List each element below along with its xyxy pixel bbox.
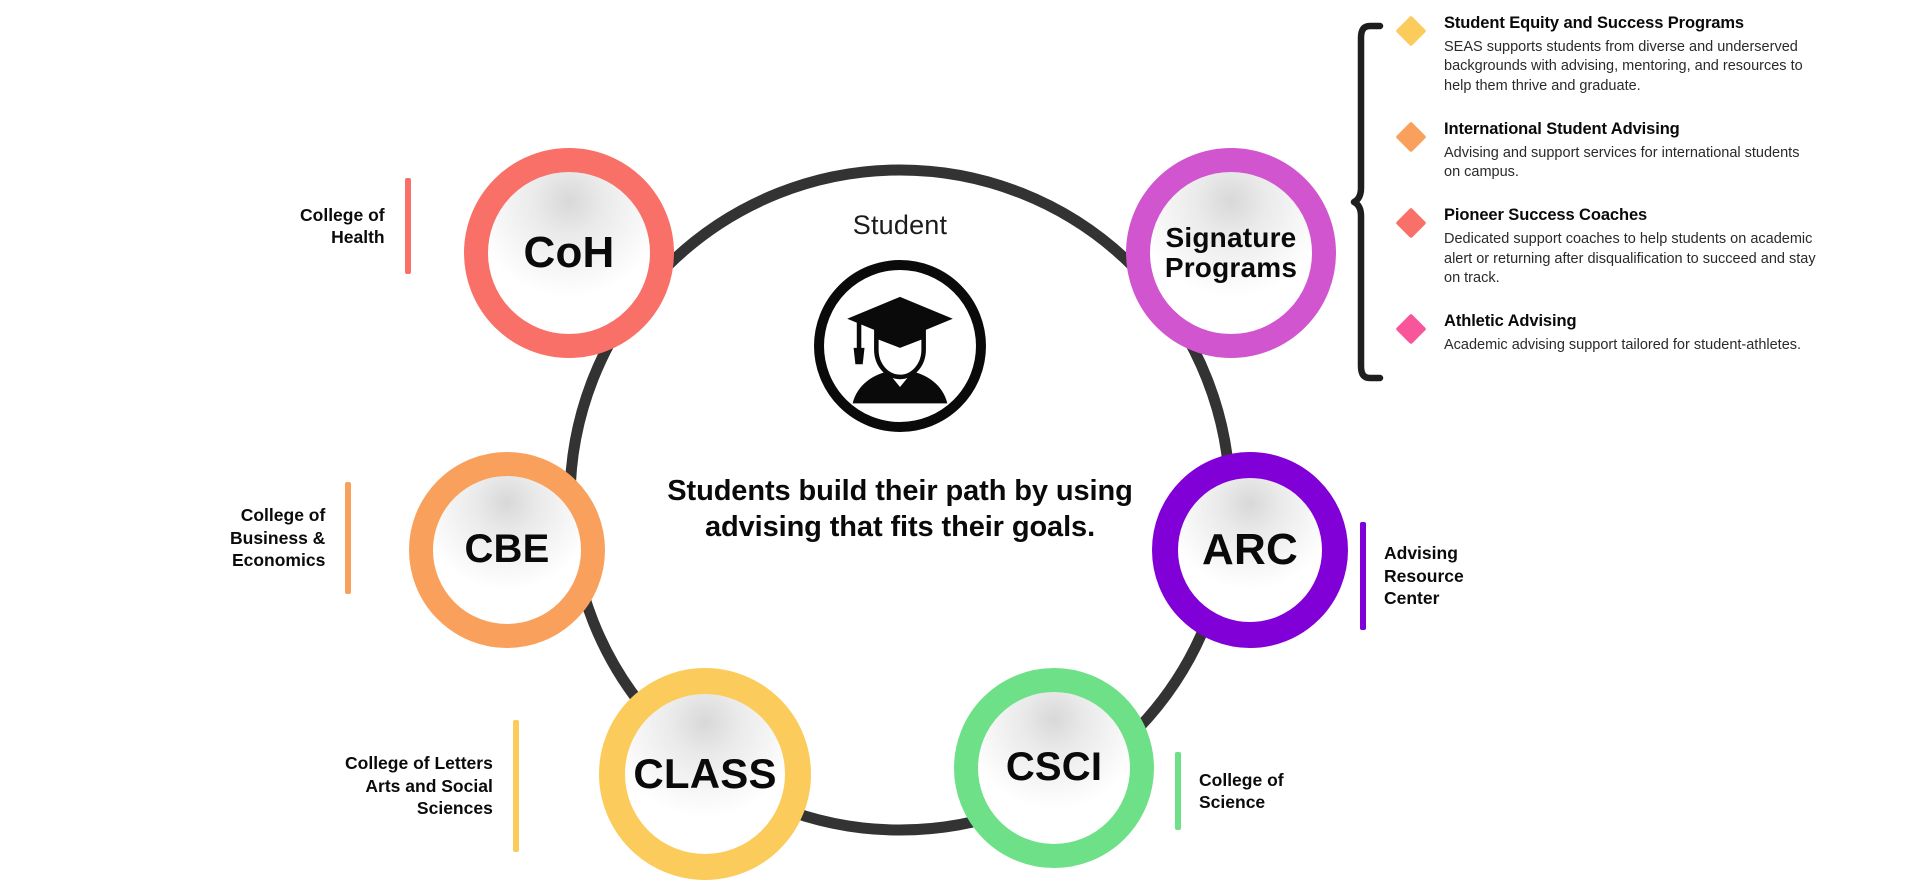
student-tagline: Students build their path by using advis…: [640, 473, 1160, 546]
accent-bar-cbe: [345, 482, 351, 594]
node-signature-programs-label: Signature Programs: [1165, 223, 1297, 283]
legend-item-title: Athletic Advising: [1444, 312, 1910, 331]
side-label-college-of-health: College of Health: [300, 178, 411, 274]
student-caption: Student: [640, 210, 1160, 241]
legend-item-description: Academic advising support tailored for s…: [1444, 336, 1819, 355]
node-csci-label: CSCI: [1006, 746, 1102, 789]
diagram-canvas: CoH Signature Programs CBE ARC CLASS CSC…: [0, 0, 1920, 881]
accent-bar-class: [513, 720, 519, 852]
side-label-advising-resource-center: Advising Resource Center: [1360, 522, 1464, 630]
legend-item-title: Pioneer Success Coaches: [1444, 206, 1910, 225]
diamond-icon: [1395, 15, 1426, 46]
legend-item-title: International Student Advising: [1444, 120, 1910, 139]
side-label-college-of-health-text: College of Health: [300, 204, 405, 249]
curly-brace-icon: [1350, 20, 1384, 384]
legend-item-list: Student Equity and Success Programs SEAS…: [1384, 14, 1910, 384]
node-cbe-label: CBE: [464, 528, 549, 571]
side-label-advising-resource-center-text: Advising Resource Center: [1366, 542, 1464, 609]
legend-item-title: Student Equity and Success Programs: [1444, 14, 1910, 33]
side-label-college-of-science: College of Science: [1175, 752, 1284, 830]
diamond-icon: [1395, 208, 1426, 239]
side-label-college-of-business-economics: College of Business & Economics: [230, 482, 351, 594]
side-label-college-of-science-text: College of Science: [1181, 769, 1284, 814]
diamond-icon: [1395, 121, 1426, 152]
node-csci[interactable]: CSCI: [954, 668, 1154, 868]
node-coh-label: CoH: [523, 229, 614, 277]
side-label-college-of-business-economics-text: College of Business & Economics: [230, 504, 345, 571]
legend-item-description: Dedicated support coaches to help studen…: [1444, 230, 1819, 288]
signature-programs-legend: Student Equity and Success Programs SEAS…: [1350, 14, 1910, 384]
node-arc[interactable]: ARC: [1152, 452, 1348, 648]
node-class[interactable]: CLASS: [599, 668, 811, 880]
legend-item[interactable]: International Student Advising Advising …: [1400, 120, 1910, 183]
side-label-college-of-letters-arts-social-sciences-text: College of Letters Arts and Social Scien…: [345, 752, 513, 819]
legend-item-description: SEAS supports students from diverse and …: [1444, 38, 1819, 96]
side-label-college-of-letters-arts-social-sciences: College of Letters Arts and Social Scien…: [345, 720, 519, 852]
node-class-label: CLASS: [633, 751, 776, 796]
graduate-student-icon: [809, 255, 991, 437]
center-student-block: Student Students build their path by usi…: [640, 210, 1160, 546]
legend-item-description: Advising and support services for intern…: [1444, 144, 1819, 183]
accent-bar-coh: [405, 178, 411, 274]
legend-item[interactable]: Student Equity and Success Programs SEAS…: [1400, 14, 1910, 96]
legend-item[interactable]: Pioneer Success Coaches Dedicated suppor…: [1400, 206, 1910, 288]
node-cbe[interactable]: CBE: [409, 452, 605, 648]
node-arc-label: ARC: [1202, 526, 1298, 574]
diamond-icon: [1395, 314, 1426, 345]
legend-item[interactable]: Athletic Advising Academic advising supp…: [1400, 312, 1910, 355]
